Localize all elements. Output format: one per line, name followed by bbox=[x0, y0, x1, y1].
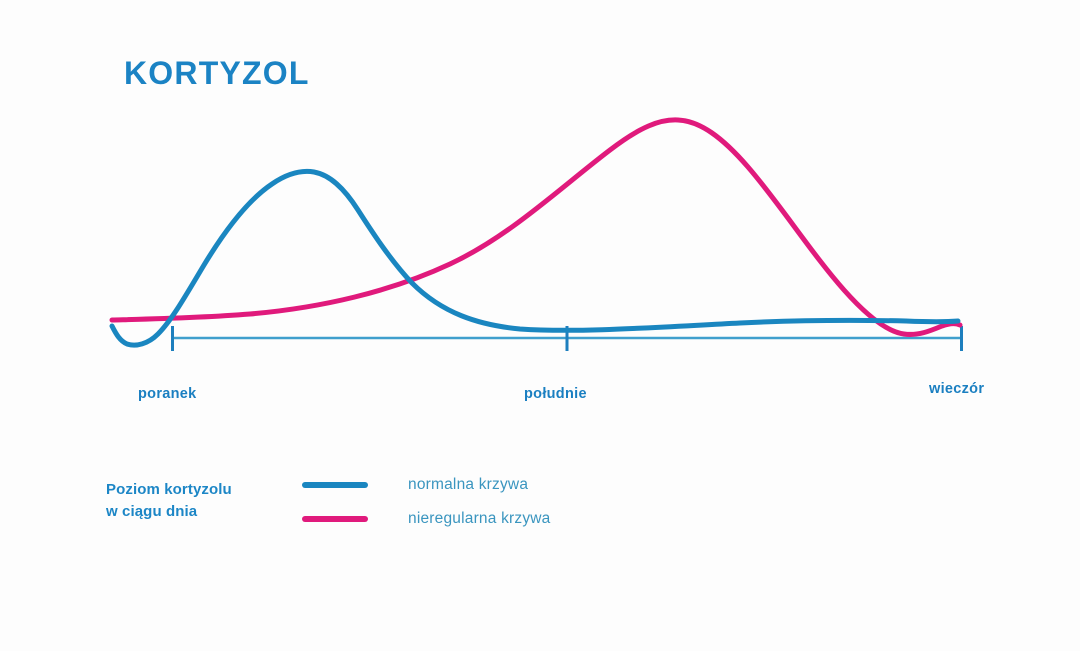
chart-legend: Poziom kortyzolu w ciągu dnia normalna k… bbox=[106, 474, 551, 528]
x-axis-label-poranek: poranek bbox=[138, 386, 197, 402]
cortisol-line-chart bbox=[0, 0, 1080, 651]
legend-item-nieregularna-krzywa[interactable]: nieregularna krzywa bbox=[302, 510, 551, 528]
y-axis-title-line-1: Poziom kortyzolu bbox=[106, 479, 302, 502]
x-axis-label-wieczor: wieczór bbox=[929, 381, 984, 397]
y-axis-title: Poziom kortyzolu w ciągu dnia bbox=[106, 479, 302, 524]
legend-swatch-pink-line-icon bbox=[302, 516, 368, 522]
chart-canvas: KORTYZOL poranek południe wieczór Poziom… bbox=[0, 0, 1080, 651]
legend-swatch-blue-line-icon bbox=[302, 482, 368, 488]
legend-item-label: normalna krzywa bbox=[408, 476, 528, 494]
legend-entry-list: normalna krzywa nieregularna krzywa bbox=[302, 474, 551, 528]
series-line-nieregularna-krzywa bbox=[112, 120, 960, 335]
legend-item-label: nieregularna krzywa bbox=[408, 510, 551, 528]
y-axis-title-line-2: w ciągu dnia bbox=[106, 501, 302, 524]
series-line-normalna-krzywa bbox=[112, 171, 958, 345]
x-axis-label-poludnie: południe bbox=[524, 386, 587, 402]
legend-item-normalna-krzywa[interactable]: normalna krzywa bbox=[302, 476, 551, 494]
